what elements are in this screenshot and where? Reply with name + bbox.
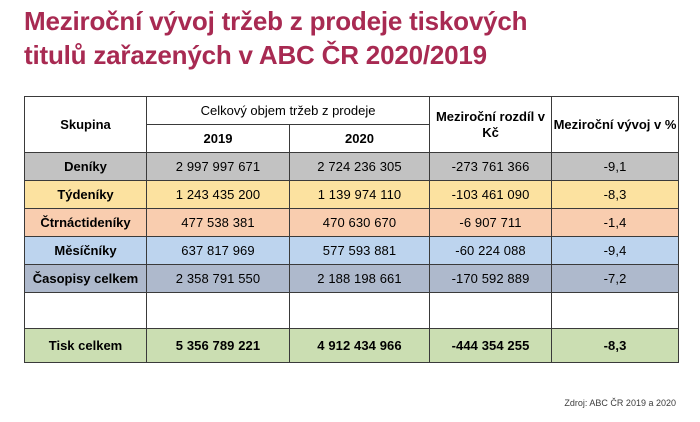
row-label-casopisy-celkem: Časopisy celkem <box>25 265 147 293</box>
cell-ctrnactideniky-2020: 470 630 670 <box>290 209 430 237</box>
cell-casopisy-pct: -7,2 <box>552 265 679 293</box>
cell-total-diff: -444 354 255 <box>430 329 552 363</box>
row-label-tisk-celkem: Tisk celkem <box>25 329 147 363</box>
column-header-year-2020: 2020 <box>290 125 430 153</box>
cell-deniky-pct: -9,1 <box>552 153 679 181</box>
table-row: Časopisy celkem 2 358 791 550 2 188 198 … <box>25 265 679 293</box>
cell-mesicniky-2020: 577 593 881 <box>290 237 430 265</box>
row-label-ctrnactideniky: Čtrnáctideníky <box>25 209 147 237</box>
cell-mesicniky-2019: 637 817 969 <box>147 237 290 265</box>
table-row: Deníky 2 997 997 671 2 724 236 305 -273 … <box>25 153 679 181</box>
table-row: Čtrnáctideníky 477 538 381 470 630 670 -… <box>25 209 679 237</box>
table-body: Deníky 2 997 997 671 2 724 236 305 -273 … <box>25 153 679 363</box>
table-header: Skupina Celkový objem tržeb z prodeje Me… <box>25 97 679 153</box>
page-title-line-2: titulů zařazených v ABC ČR 2020/2019 <box>24 38 684 72</box>
cell-tydeniky-diff: -103 461 090 <box>430 181 552 209</box>
column-header-change-pct: Meziroční vývoj v % <box>552 97 679 153</box>
sales-table: Skupina Celkový objem tržeb z prodeje Me… <box>24 96 679 363</box>
cell-mesicniky-diff: -60 224 088 <box>430 237 552 265</box>
cell-mesicniky-pct: -9,4 <box>552 237 679 265</box>
sales-table-container: Skupina Celkový objem tržeb z prodeje Me… <box>24 96 678 363</box>
column-header-group: Skupina <box>25 97 147 153</box>
cell-deniky-2019: 2 997 997 671 <box>147 153 290 181</box>
cell-casopisy-2020: 2 188 198 661 <box>290 265 430 293</box>
column-header-total-volume: Celkový objem tržeb z prodeje <box>147 97 430 125</box>
column-header-diff-czk: Meziroční rozdíl v Kč <box>430 97 552 153</box>
spacer-cell-2019 <box>147 293 290 329</box>
row-label-deniky: Deníky <box>25 153 147 181</box>
cell-tydeniky-2020: 1 139 974 110 <box>290 181 430 209</box>
row-label-mesicniky: Měsíčníky <box>25 237 147 265</box>
spacer-cell-diff <box>430 293 552 329</box>
spacer-cell-group <box>25 293 147 329</box>
page-title: Meziroční vývoj tržeb z prodeje tiskovýc… <box>24 4 684 72</box>
cell-deniky-2020: 2 724 236 305 <box>290 153 430 181</box>
row-label-tydeniky: Týdeníky <box>25 181 147 209</box>
cell-total-2019: 5 356 789 221 <box>147 329 290 363</box>
table-row: Měsíčníky 637 817 969 577 593 881 -60 22… <box>25 237 679 265</box>
table-row: Týdeníky 1 243 435 200 1 139 974 110 -10… <box>25 181 679 209</box>
cell-ctrnactideniky-pct: -1,4 <box>552 209 679 237</box>
page-title-line-1: Meziroční vývoj tržeb z prodeje tiskovýc… <box>24 4 684 38</box>
cell-total-pct: -8,3 <box>552 329 679 363</box>
cell-total-2020: 4 912 434 966 <box>290 329 430 363</box>
cell-casopisy-diff: -170 592 889 <box>430 265 552 293</box>
cell-ctrnactideniky-2019: 477 538 381 <box>147 209 290 237</box>
table-header-row-1: Skupina Celkový objem tržeb z prodeje Me… <box>25 97 679 125</box>
spacer-cell-2020 <box>290 293 430 329</box>
source-note: Zdroj: ABC ČR 2019 a 2020 <box>564 398 676 408</box>
cell-casopisy-2019: 2 358 791 550 <box>147 265 290 293</box>
cell-ctrnactideniky-diff: -6 907 711 <box>430 209 552 237</box>
spacer-cell-pct <box>552 293 679 329</box>
cell-tydeniky-pct: -8,3 <box>552 181 679 209</box>
table-total-row: Tisk celkem 5 356 789 221 4 912 434 966 … <box>25 329 679 363</box>
table-spacer-row <box>25 293 679 329</box>
column-header-year-2019: 2019 <box>147 125 290 153</box>
cell-tydeniky-2019: 1 243 435 200 <box>147 181 290 209</box>
cell-deniky-diff: -273 761 366 <box>430 153 552 181</box>
